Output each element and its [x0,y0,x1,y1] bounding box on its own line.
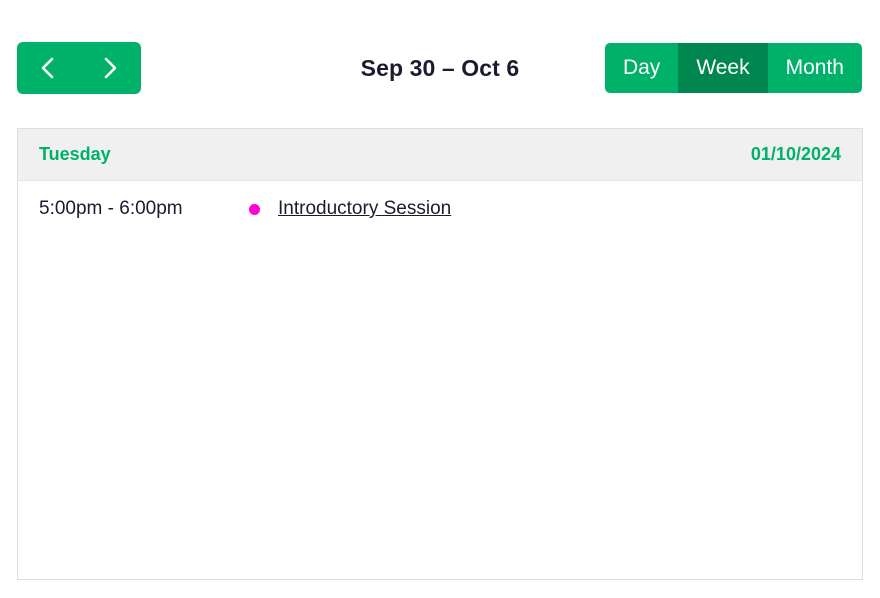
day-date-label: 01/10/2024 [751,144,841,165]
view-toggle-group: Day Week Month [605,43,862,93]
event-time-label: 5:00pm - 6:00pm [39,198,249,220]
day-header-row: Tuesday 01/10/2024 [18,128,862,181]
event-row[interactable]: 5:00pm - 6:00pm Introductory Session [18,195,862,223]
event-color-dot-icon [249,204,260,215]
calendar-toolbar: Sep 30 – Oct 6 Day Week Month [0,0,880,128]
view-button-month[interactable]: Month [768,43,862,93]
calendar-app: Sep 30 – Oct 6 Day Week Month Tuesday 01… [0,0,880,598]
event-title-link[interactable]: Introductory Session [278,198,451,220]
day-events-list: 5:00pm - 6:00pm Introductory Session [18,181,862,578]
calendar-card: Tuesday 01/10/2024 5:00pm - 6:00pm Intro… [17,128,863,580]
view-button-week[interactable]: Week [678,43,767,93]
view-button-day[interactable]: Day [605,43,678,93]
day-name-label: Tuesday [39,144,111,165]
